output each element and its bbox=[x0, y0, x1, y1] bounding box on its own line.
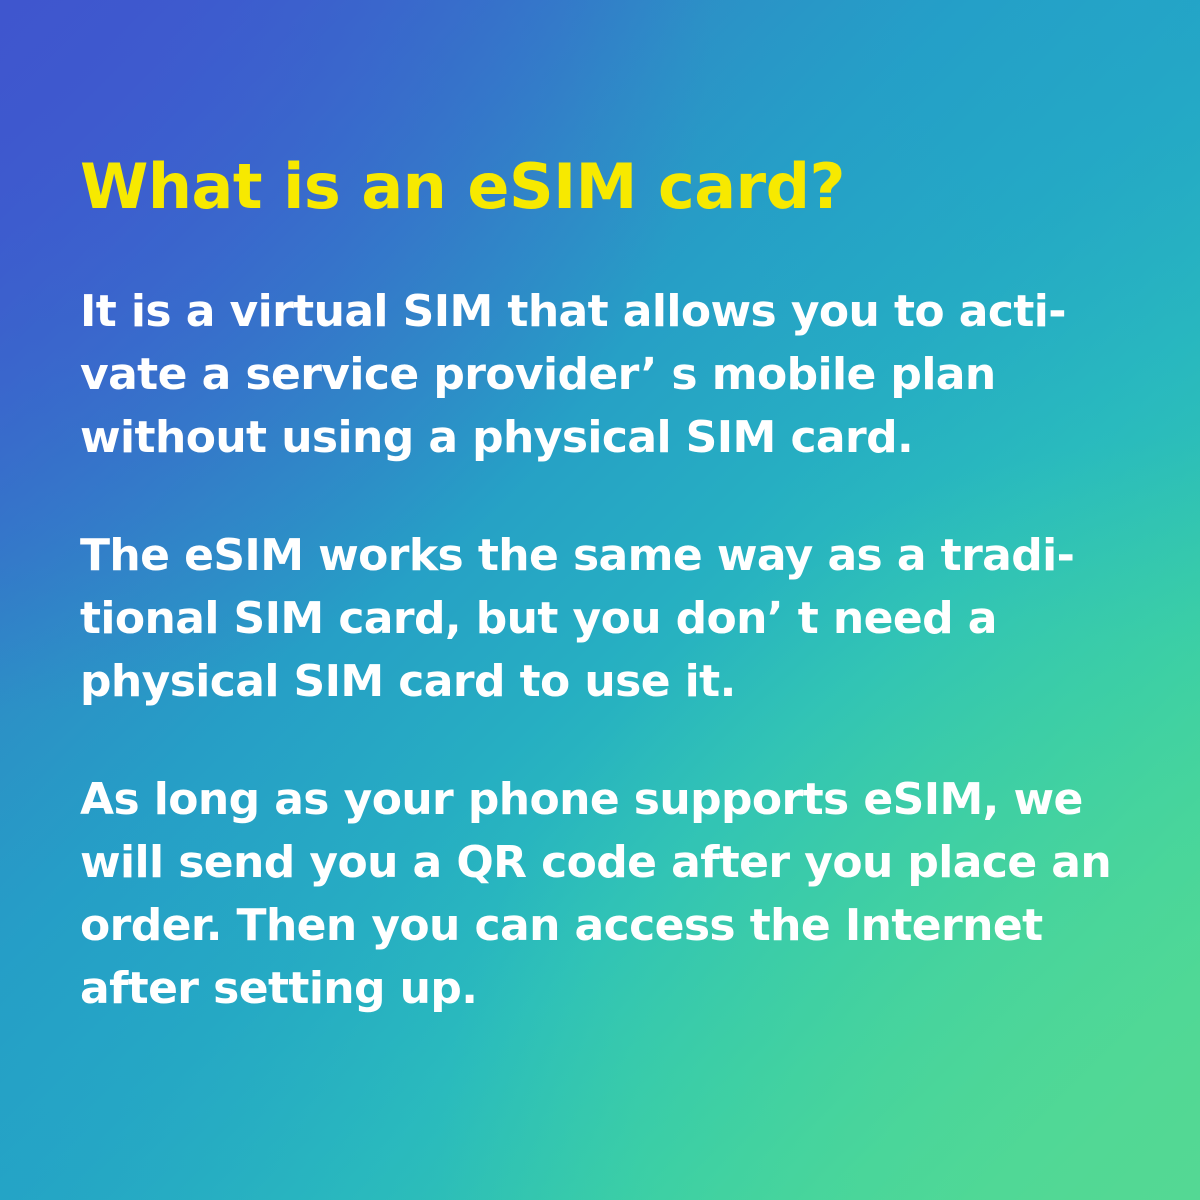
paragraph-qr-code-delivery: As long as your phone supports eSIM, we … bbox=[80, 768, 1040, 1020]
body-copy: It is a virtual SIM that allows you to a… bbox=[80, 280, 1120, 1020]
page-title: What is an eSIM card? bbox=[80, 0, 1120, 224]
text-line: tional SIM card, but you don’ t need a bbox=[80, 587, 1040, 650]
text-line: The eSIM works the same way as a tradi- bbox=[80, 524, 1040, 587]
text-line: will send you a QR code after you place … bbox=[80, 831, 1040, 894]
esim-info-card: What is an eSIM card? It is a virtual SI… bbox=[0, 0, 1200, 1200]
text-line: without using a physical SIM card. bbox=[80, 406, 1040, 469]
paragraph-how-it-works: The eSIM works the same way as a tradi- … bbox=[80, 524, 1040, 713]
text-line: after setting up. bbox=[80, 957, 1040, 1020]
text-line: As long as your phone supports eSIM, we bbox=[80, 768, 1040, 831]
text-line: vate a service provider’ s mobile plan bbox=[80, 343, 1040, 406]
paragraph-definition: It is a virtual SIM that allows you to a… bbox=[80, 280, 1040, 469]
card-content: What is an eSIM card? It is a virtual SI… bbox=[0, 0, 1200, 1020]
text-line: order. Then you can access the Internet bbox=[80, 894, 1040, 957]
text-line: physical SIM card to use it. bbox=[80, 650, 1040, 713]
text-line: It is a virtual SIM that allows you to a… bbox=[80, 280, 1040, 343]
